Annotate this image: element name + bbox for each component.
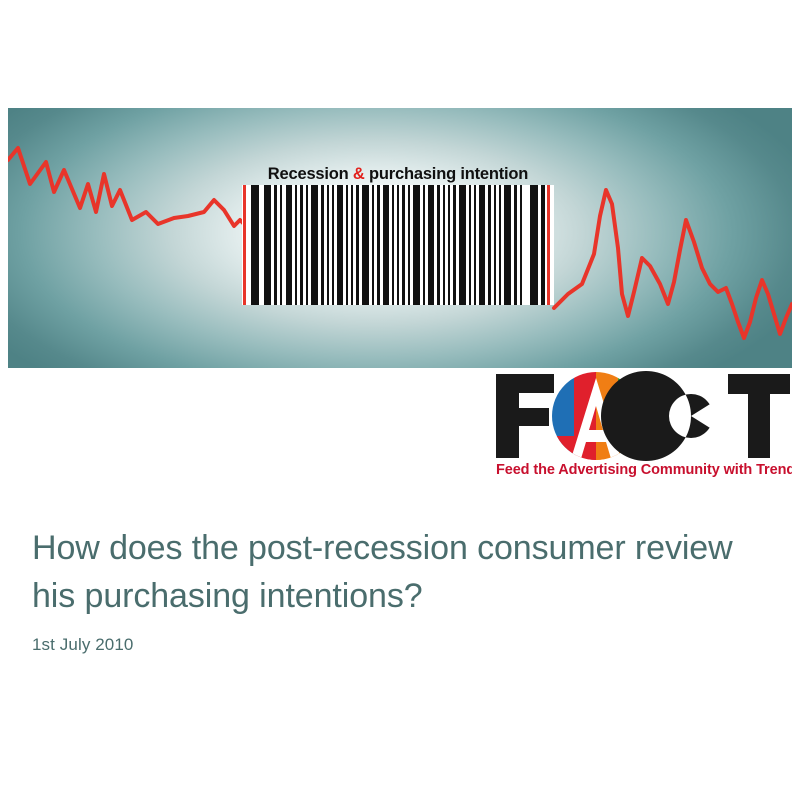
barcode-label-prefix: Recession bbox=[268, 165, 353, 183]
barcode: Recession & purchasing intention bbox=[242, 160, 554, 308]
slide-date: 1st July 2010 bbox=[32, 634, 762, 656]
barcode-label-ampersand: & bbox=[353, 165, 365, 183]
recession-banner: Recession & purchasing intention bbox=[8, 108, 792, 368]
page-title: How does the post-recession consumer rev… bbox=[32, 524, 762, 620]
fact-logo: Feed the Advertising Community with Tren… bbox=[492, 370, 792, 478]
fact-tagline: Feed the Advertising Community with Tren… bbox=[496, 462, 792, 478]
barcode-guard-left bbox=[243, 185, 246, 305]
fact-letter-f bbox=[496, 374, 554, 458]
title-block: How does the post-recession consumer rev… bbox=[32, 524, 762, 656]
trend-line-left bbox=[8, 148, 248, 228]
barcode-label: Recession & purchasing intention bbox=[242, 160, 554, 188]
barcode-guard-right bbox=[547, 185, 550, 305]
barcode-label-suffix: purchasing intention bbox=[365, 165, 529, 183]
fact-logo-mark: Feed the Advertising Community with Tren… bbox=[492, 370, 792, 478]
trend-line-right bbox=[554, 190, 792, 338]
barcode-bars bbox=[242, 185, 554, 305]
